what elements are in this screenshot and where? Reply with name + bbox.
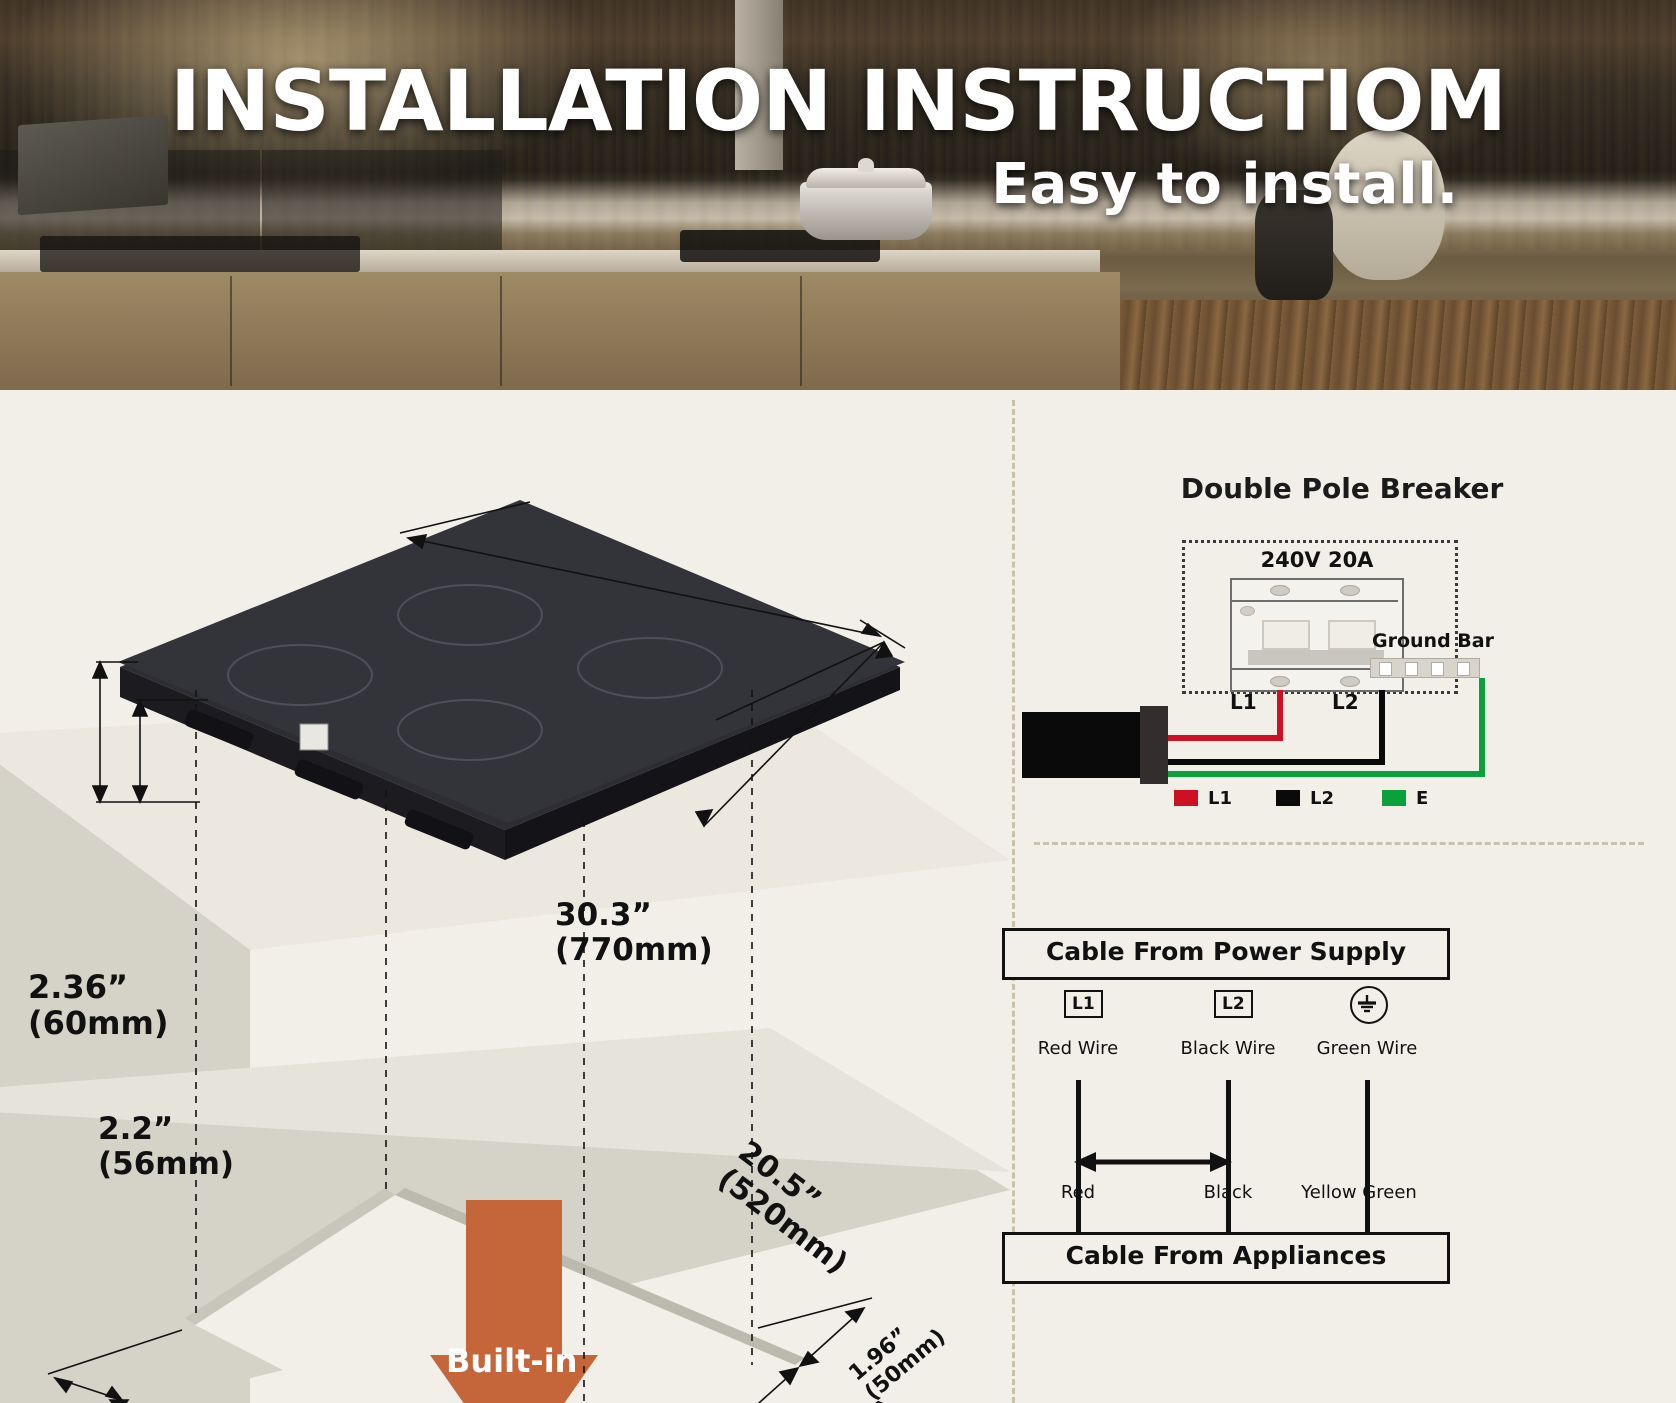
dimension-height-recess: 2.2” (56mm) <box>98 1112 234 1181</box>
kitchen-sink <box>40 236 360 272</box>
pot-lid-knob <box>858 158 874 172</box>
left-panel-labels: 2.36” (60mm) 2.2” (56mm) 30.3” (770mm) 2… <box>0 390 1010 1403</box>
builtin-arrow-label: Built-in <box>446 1342 577 1380</box>
cooking-pot <box>800 182 932 240</box>
page-subtitle: Easy to install. <box>991 152 1458 217</box>
dimension-height-overall: 2.36” (60mm) <box>28 970 168 1042</box>
base-cabinets <box>0 272 1120 390</box>
upper-cabinet-2 <box>262 150 502 250</box>
dimension-depth-overall: 20.5” (520mm) <box>712 1135 874 1280</box>
hero-banner: INSTALLATION INSTRUCTIOM Easy to install… <box>0 0 1676 390</box>
wire-pair-arrow <box>1012 390 1676 1403</box>
drawer-divider-2 <box>500 276 502 386</box>
drawer-divider-1 <box>230 276 232 386</box>
drawer-divider-3 <box>800 276 802 386</box>
dimension-width-overall: 30.3” (770mm) <box>555 898 713 967</box>
page-title: INSTALLATION INSTRUCTIOM <box>0 52 1676 150</box>
right-panel: Double Pole Breaker 240V 20A L1 L2 Groun… <box>1012 390 1676 1403</box>
wood-floor <box>1120 300 1676 390</box>
